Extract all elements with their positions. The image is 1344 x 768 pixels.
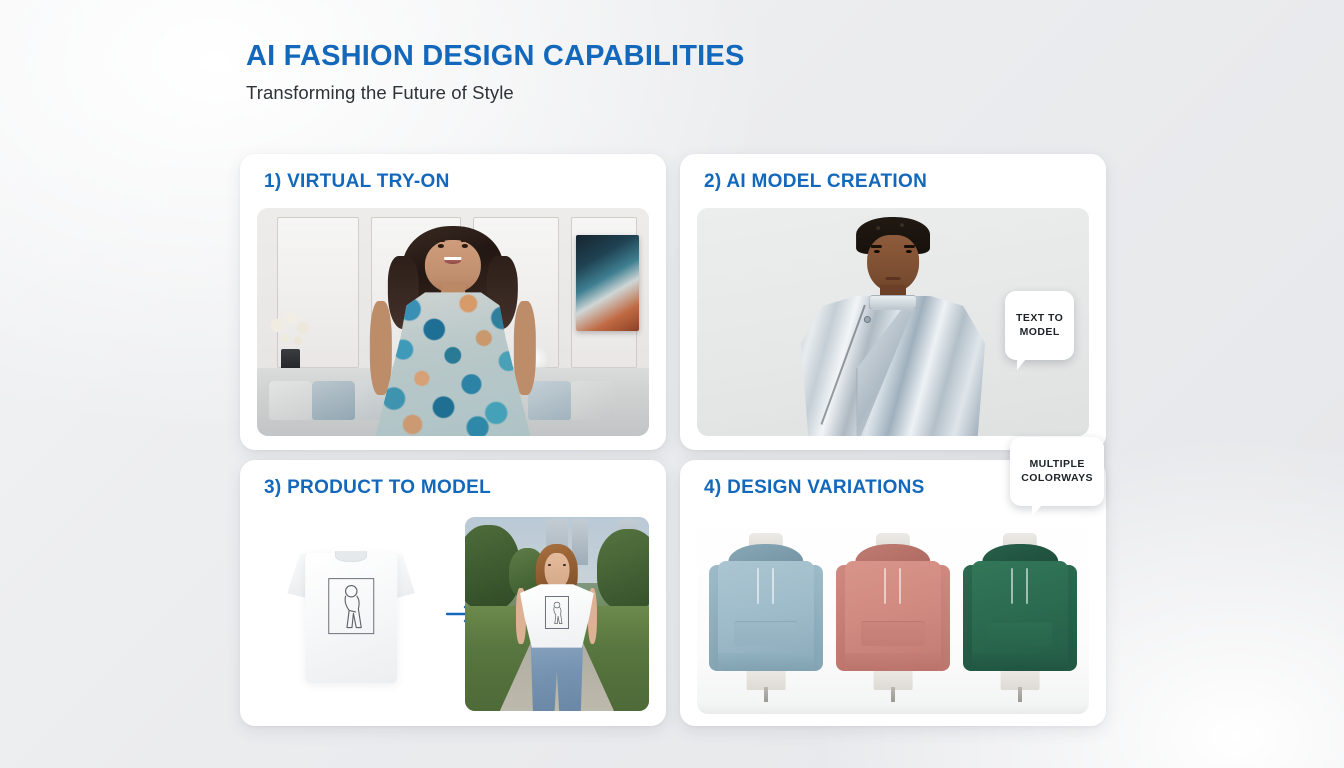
mannequin-pole — [1018, 687, 1022, 703]
figure-line-art-icon — [329, 579, 373, 633]
worn-tshirt-graphic — [545, 596, 569, 629]
page-title: AI FASHION DESIGN CAPABILITIES — [246, 40, 745, 72]
flat-lay-tshirt — [283, 539, 418, 683]
kangaroo-pocket — [861, 621, 925, 646]
lifestyle-photo-side — [465, 517, 649, 711]
card-media-1 — [257, 208, 649, 436]
hem-band — [845, 653, 941, 671]
cushion — [312, 381, 355, 420]
arm — [514, 301, 536, 395]
card-title-3: 3) PRODUCT TO MODEL — [264, 477, 491, 499]
callout-text: MULTIPLE COLORWAYS — [1021, 458, 1093, 486]
callout-multiple-colorways: MULTIPLE COLORWAYS — [1010, 437, 1104, 506]
card-design-variations[interactable]: 4) DESIGN VARIATIONS — [680, 460, 1106, 726]
blue-jeans — [528, 641, 585, 711]
mannequin-pole — [764, 687, 768, 703]
mannequin-pole — [891, 687, 895, 703]
cushion — [269, 381, 312, 420]
scene-virtual-try-on — [257, 208, 649, 436]
hoodie-row — [709, 522, 1078, 706]
display-shelf — [697, 704, 1089, 714]
tshirt-neckline — [335, 551, 368, 563]
jacket-collar — [869, 295, 917, 310]
scene-product-to-model — [257, 514, 649, 714]
hoodie-green — [963, 529, 1077, 706]
eye — [438, 244, 444, 247]
tshirt-line-art-graphic — [328, 578, 374, 634]
drawstring — [899, 568, 901, 603]
eyebrow — [461, 240, 471, 242]
card-virtual-try-on[interactable]: 1) VIRTUAL TRY-ON — [240, 154, 666, 450]
flower-branches — [267, 313, 314, 354]
face — [867, 235, 919, 292]
flat-lay-side — [257, 514, 445, 714]
slide-canvas: AI FASHION DESIGN CAPABILITIES Transform… — [0, 0, 1344, 768]
slide-header: AI FASHION DESIGN CAPABILITIES Transform… — [246, 40, 745, 104]
cushion — [571, 381, 614, 420]
card-media-4 — [697, 514, 1089, 714]
card-title-2: 2) AI MODEL CREATION — [704, 171, 927, 193]
arm — [370, 301, 392, 395]
silver-jacket — [801, 296, 985, 436]
scene-design-variations — [697, 514, 1089, 714]
hem-band — [718, 653, 814, 671]
card-media-3: FLAT-LAY TO LIFESTYLE PHOTO — [257, 514, 649, 714]
tree — [597, 529, 649, 610]
hoodie-blue — [709, 529, 823, 706]
kangaroo-pocket — [734, 621, 798, 646]
capability-card-grid: 1) VIRTUAL TRY-ON — [240, 154, 1106, 726]
face — [544, 553, 569, 590]
card-product-to-model[interactable]: 3) PRODUCT TO MODEL — [240, 460, 666, 726]
eyebrow — [435, 240, 445, 242]
drawstring — [1026, 568, 1028, 603]
callout-text-to-model: TEXT TO MODEL — [1005, 291, 1074, 360]
hem-band — [972, 653, 1068, 671]
page-subtitle: Transforming the Future of Style — [246, 82, 745, 104]
hoodie-coral — [836, 529, 950, 706]
card-title-1: 1) VIRTUAL TRY-ON — [264, 171, 450, 193]
kangaroo-pocket — [988, 621, 1052, 646]
figure-line-art-icon — [546, 597, 568, 628]
model-man-silver-jacket — [801, 217, 985, 436]
card-title-4: 4) DESIGN VARIATIONS — [704, 477, 925, 499]
wall-artwork — [576, 235, 639, 331]
drawstring — [884, 568, 886, 603]
drawstring — [1011, 568, 1013, 603]
drawstring — [757, 568, 759, 603]
model-woman-floral-dress — [363, 222, 543, 436]
model-woman-tshirt-jeans — [511, 544, 603, 711]
drawstring — [772, 568, 774, 603]
card-media-2: TEXT TO MODEL — [697, 208, 1089, 436]
callout-text: TEXT TO MODEL — [1016, 312, 1063, 340]
mouth — [886, 277, 901, 280]
card-ai-model-creation[interactable]: 2) AI MODEL CREATION — [680, 154, 1106, 450]
